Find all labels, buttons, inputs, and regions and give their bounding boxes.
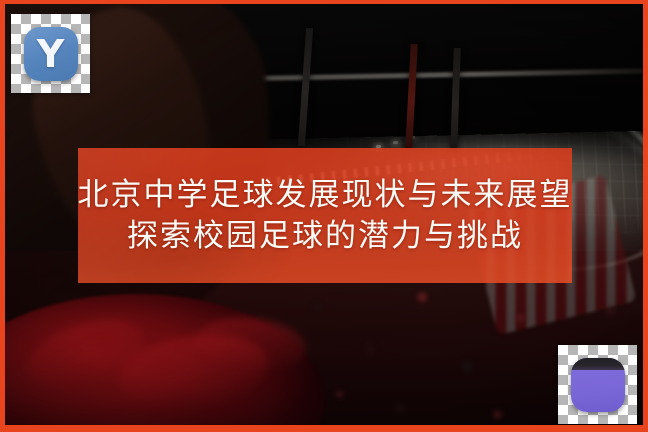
y-app-icon[interactable]: Y xyxy=(24,27,78,81)
title-card: 北京中学足球发展现状与未来展望 探索校园足球的潜力与挑战 Y xyxy=(0,0,648,432)
app-icon-badge-top-left[interactable]: Y xyxy=(11,14,90,93)
purple-app-icon[interactable] xyxy=(571,358,625,412)
letter-y-glyph: Y xyxy=(37,35,65,73)
title-line-primary: 北京中学足球发展现状与未来展望 xyxy=(78,177,573,214)
title-banner: 北京中学足球发展现状与未来展望 探索校园足球的潜力与挑战 xyxy=(78,148,572,283)
app-icon-badge-bottom-right[interactable] xyxy=(558,345,637,424)
title-line-secondary: 探索校园足球的潜力与挑战 xyxy=(127,218,523,255)
